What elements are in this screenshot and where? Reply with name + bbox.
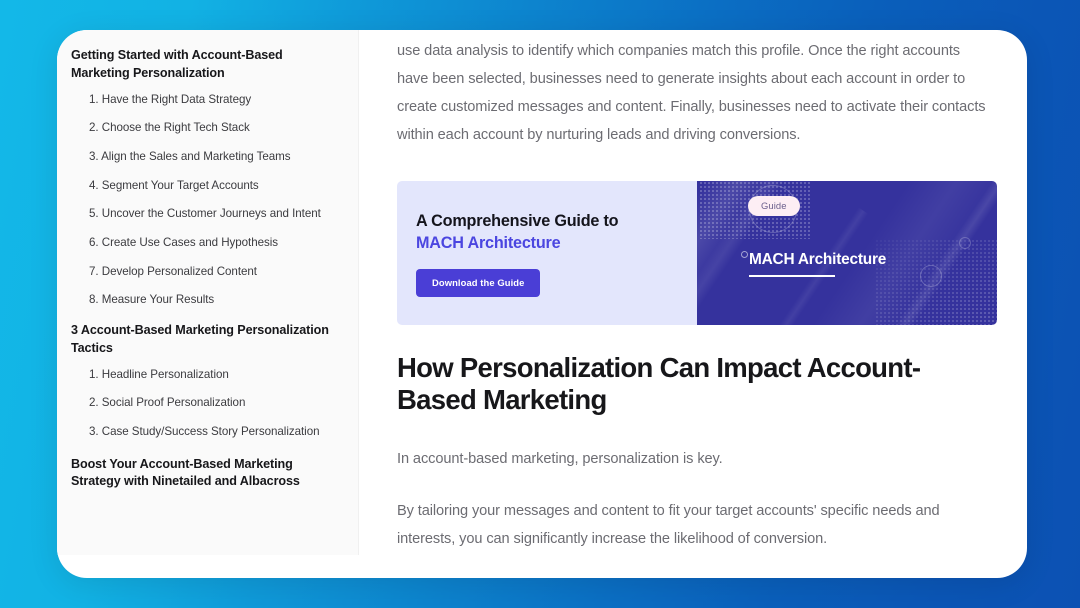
promo-title-line-1: A Comprehensive Guide to bbox=[416, 211, 697, 233]
toc-item-1-6[interactable]: 6. Create Use Cases and Hypothesis bbox=[89, 235, 336, 251]
promo-cover-underline bbox=[749, 275, 835, 277]
promo-title-line-2: MACH Architecture bbox=[416, 233, 697, 255]
promo-banner[interactable]: A Comprehensive Guide to MACH Architectu… bbox=[397, 181, 997, 325]
promo-cover-title: MACH Architecture bbox=[749, 251, 886, 269]
article-main-content: To select the right accounts, businesses… bbox=[359, 30, 1027, 578]
decorative-dot-icon bbox=[741, 251, 748, 258]
toc-item-2-1[interactable]: 1. Headline Personalization bbox=[89, 367, 336, 383]
download-guide-button[interactable]: Download the Guide bbox=[416, 269, 540, 297]
toc-item-1-5[interactable]: 5. Uncover the Customer Journeys and Int… bbox=[89, 206, 336, 222]
intro-paragraph: To select the right accounts, businesses… bbox=[397, 30, 991, 149]
promo-banner-cover-panel: Guide MACH Architecture bbox=[697, 181, 997, 325]
body-paragraph-1: In account-based marketing, personalizat… bbox=[397, 445, 991, 473]
toc-item-1-1[interactable]: 1. Have the Right Data Strategy bbox=[89, 92, 336, 108]
toc-item-1-3[interactable]: 3. Align the Sales and Marketing Teams bbox=[89, 149, 336, 165]
toc-section-heading-3[interactable]: Boost Your Account-Based Marketing Strat… bbox=[71, 456, 336, 492]
toc-section-heading-1[interactable]: Getting Started with Account-Based Marke… bbox=[71, 47, 336, 83]
dot-pattern-bottom-right-icon bbox=[875, 239, 997, 325]
toc-item-1-7[interactable]: 7. Develop Personalized Content bbox=[89, 264, 336, 280]
body-paragraph-2: By tailoring your messages and content t… bbox=[397, 497, 991, 553]
page-section-heading: How Personalization Can Impact Account-B… bbox=[397, 352, 967, 416]
article-card: Getting Started with Account-Based Marke… bbox=[57, 30, 1027, 578]
decorative-circle-icon-small bbox=[959, 237, 971, 249]
article-card-inner: Getting Started with Account-Based Marke… bbox=[57, 30, 1027, 578]
toc-item-1-8[interactable]: 8. Measure Your Results bbox=[89, 292, 336, 308]
toc-item-2-3[interactable]: 3. Case Study/Success Story Personalizat… bbox=[89, 424, 336, 440]
decorative-circle-icon-medium bbox=[920, 265, 942, 287]
promo-banner-left-panel: A Comprehensive Guide to MACH Architectu… bbox=[397, 181, 697, 325]
toc-item-1-4[interactable]: 4. Segment Your Target Accounts bbox=[89, 178, 336, 194]
table-of-contents-sidebar: Getting Started with Account-Based Marke… bbox=[57, 30, 359, 555]
toc-item-2-2[interactable]: 2. Social Proof Personalization bbox=[89, 395, 336, 411]
toc-section-heading-2[interactable]: 3 Account-Based Marketing Personalizatio… bbox=[71, 322, 336, 358]
page-viewport: Getting Started with Account-Based Marke… bbox=[0, 0, 1080, 608]
guide-badge: Guide bbox=[748, 196, 800, 216]
toc-item-1-2[interactable]: 2. Choose the Right Tech Stack bbox=[89, 120, 336, 136]
